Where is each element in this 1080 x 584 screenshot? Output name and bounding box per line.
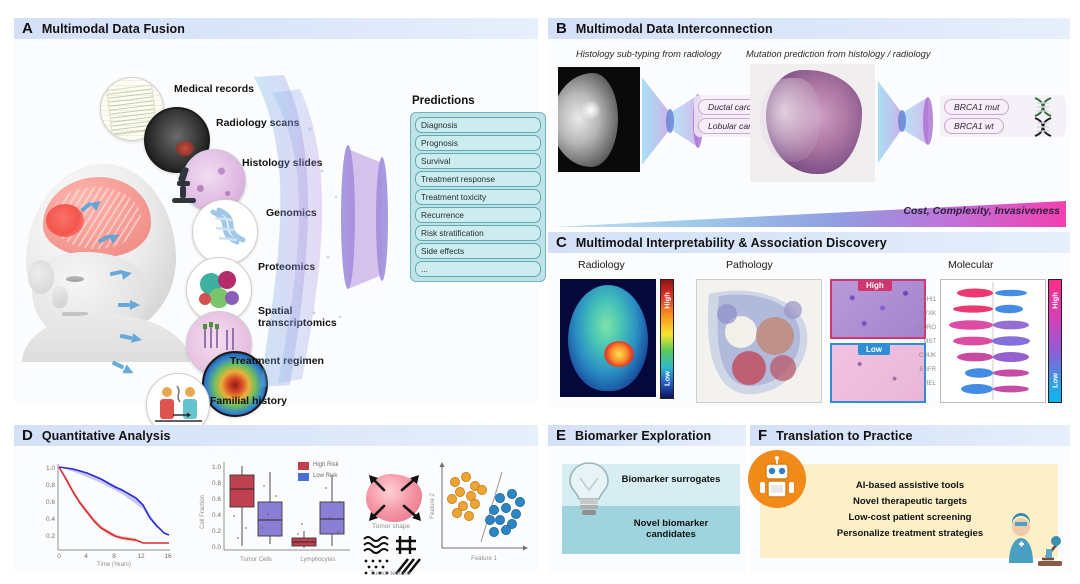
svg-text:0.6: 0.6 xyxy=(212,496,221,503)
brain-heatmap-image xyxy=(560,279,656,397)
svg-text:0.8: 0.8 xyxy=(46,482,55,489)
shap-beeswarm-glyph xyxy=(941,280,1045,402)
panel-d: D Quantitative Analysis 1.00.80.6 0.40.2… xyxy=(14,425,538,573)
shap-gene-label: EGFR xyxy=(906,367,936,373)
flow-arrow-tail-4 xyxy=(118,303,130,307)
svg-text:0.2: 0.2 xyxy=(212,528,221,535)
panel-e-body: Biomarker surrogates Novel biomarker can… xyxy=(548,446,746,573)
survival-curve-chart: 1.00.80.6 0.40.2 048 1216 Time (Years) xyxy=(28,458,178,568)
panel-e-title: Biomarker Exploration xyxy=(575,429,711,443)
panel-c: C Multimodal Interpretability & Associat… xyxy=(548,232,1070,407)
panel-b: B Multimodal Data Interconnection Histol… xyxy=(548,18,1070,225)
panel-c-header: C Multimodal Interpretability & Associat… xyxy=(548,232,1070,253)
prediction-item: Recurrence xyxy=(415,207,541,223)
patch-label-low: Low xyxy=(858,344,890,355)
translation-item: Novel therapeutic targets xyxy=(750,496,1070,507)
panel-a-header: A Multimodal Data Fusion xyxy=(14,18,538,39)
cost-complexity-label: Cost, Complexity, Invasiveness xyxy=(903,205,1060,217)
svg-text:0.4: 0.4 xyxy=(46,516,55,523)
panel-d-header: D Quantitative Analysis xyxy=(14,425,538,446)
label-medical-records: Medical records xyxy=(174,83,254,95)
panel-f-body: AI-based assistive tools Novel therapeut… xyxy=(750,446,1070,573)
prediction-item: Survival xyxy=(415,153,541,169)
panel-e: E Biomarker Exploration Biomarker surrog… xyxy=(548,425,746,573)
svg-text:4: 4 xyxy=(84,553,88,560)
pathology-attention-glyph xyxy=(697,280,821,402)
novel-biomarker-candidates-label: Novel biomarker candidates xyxy=(608,518,734,541)
prediction-item: Risk stratification xyxy=(415,225,541,241)
panel-d-letter: D xyxy=(22,428,33,443)
subtitle-pathology: Pathology xyxy=(726,259,773,271)
panel-f: F Translation to Practice AI-based assis… xyxy=(750,425,1070,573)
translation-item: AI-based assistive tools xyxy=(750,480,1070,491)
shap-gene-label: MST xyxy=(906,339,936,345)
lightbulb-icon xyxy=(566,460,612,518)
biomarker-surrogates-label: Biomarker surrogates xyxy=(608,474,734,485)
subtitle-molecular: Molecular xyxy=(948,259,994,271)
legend-swatch-low-risk xyxy=(298,473,309,481)
panel-d-title: Quantitative Analysis xyxy=(42,429,171,443)
panel-a: A Multimodal Data Fusion xyxy=(14,18,538,403)
panel-b-body: Histology sub-typing from radiology Muta… xyxy=(548,39,1070,225)
novel-biomarker-line2: candidates xyxy=(646,529,696,540)
svg-text:0: 0 xyxy=(57,553,61,560)
prediction-item: Diagnosis xyxy=(415,117,541,133)
predictions-list: Diagnosis Prognosis Survival Treatment r… xyxy=(410,112,546,282)
panel-a-title: Multimodal Data Fusion xyxy=(42,22,185,36)
tumor-region-icon xyxy=(46,204,84,237)
panel-c-title: Multimodal Interpretability & Associatio… xyxy=(576,236,887,250)
svg-text:Lymphocytes: Lymphocytes xyxy=(300,557,335,563)
ear-shape xyxy=(28,260,54,294)
svg-text:1.0: 1.0 xyxy=(212,464,221,471)
figure-root: A Multimodal Data Fusion xyxy=(0,0,1080,584)
panel-d-body: 1.00.80.6 0.40.2 048 1216 Time (Years) 1 xyxy=(14,446,538,573)
panel-f-letter: F xyxy=(758,428,767,443)
svg-text:Feature 2: Feature 2 xyxy=(430,492,436,518)
dna-icon-wt xyxy=(1032,117,1054,137)
novel-biomarker-line1: Novel biomarker xyxy=(634,518,708,529)
low-attention-patch: Low xyxy=(830,343,926,403)
shap-colorbar-high-label: High xyxy=(1051,292,1060,309)
subtitle-radiology: Radiology xyxy=(578,259,625,271)
flow-arrow-4 xyxy=(130,300,140,310)
shap-colorbar: High Low xyxy=(1048,279,1062,403)
panel-b-title: Multimodal Data Interconnection xyxy=(576,22,773,36)
predictions-title: Predictions xyxy=(412,95,475,107)
svg-text:0.4: 0.4 xyxy=(212,512,221,519)
flow-arrow-6 xyxy=(122,364,135,377)
shap-beeswarm-plot xyxy=(940,279,1046,403)
shap-colorbar-low-label: Low xyxy=(1051,373,1060,388)
colorbar-low-label: Low xyxy=(663,371,672,386)
microscope-icon xyxy=(166,167,200,207)
pathology-attention-map xyxy=(696,279,822,403)
shap-gene-label: EURO xyxy=(906,325,936,331)
patient-head-illustration xyxy=(26,164,188,349)
legend-label-high-risk: High Risk xyxy=(313,462,339,468)
shap-gene-label: ATXK xyxy=(906,311,936,317)
panel-a-body: Medical records Radiology scans Histolog… xyxy=(14,39,538,403)
svg-text:1.0: 1.0 xyxy=(46,465,55,472)
svg-text:8: 8 xyxy=(112,553,116,560)
network-funnel-2 xyxy=(876,79,946,165)
tumor-shape-label: Tumor shape xyxy=(372,523,410,530)
genomics-icon xyxy=(192,199,258,265)
tag-brca1-wt: BRCA1 wt xyxy=(944,118,1004,134)
prediction-item: Treatment toxicity xyxy=(415,189,541,205)
svg-text:0.8: 0.8 xyxy=(212,480,221,487)
tumor-shape-arrows-icon xyxy=(362,470,428,526)
prediction-item: Prognosis xyxy=(415,135,541,151)
panel-f-header: F Translation to Practice xyxy=(750,425,1070,446)
caption-histology-subtyping: Histology sub-typing from radiology xyxy=(576,49,721,59)
panel-a-letter: A xyxy=(22,21,33,36)
fusion-network-illustration xyxy=(250,67,408,397)
flow-arrow-5 xyxy=(131,333,143,345)
panel-b-header: B Multimodal Data Interconnection xyxy=(548,18,1070,39)
panel-c-letter: C xyxy=(556,235,567,250)
svg-text:0.6: 0.6 xyxy=(46,499,55,506)
panel-e-header: E Biomarker Exploration xyxy=(548,425,746,446)
feature-scatter-chart: Feature 1 Feature 2 xyxy=(428,458,534,570)
dna-helix-glyph xyxy=(193,200,257,264)
shap-gene-label: CHI1 xyxy=(906,297,936,303)
tag-brca1-mut: BRCA1 mut xyxy=(944,99,1009,115)
nose-shape xyxy=(52,286,68,308)
patch-label-high: High xyxy=(858,280,892,291)
whole-slide-image xyxy=(750,64,875,182)
prediction-item: ... xyxy=(415,261,541,277)
panel-b-letter: B xyxy=(556,21,567,36)
legend-swatch-high-risk xyxy=(298,462,309,470)
svg-text:12: 12 xyxy=(137,553,145,560)
panel-c-body: Radiology Pathology Molecular High Low xyxy=(548,253,1070,407)
svg-text:Tumor Cells: Tumor Cells xyxy=(240,557,272,563)
panel-e-letter: E xyxy=(556,428,566,443)
shap-gene-label: CHUK xyxy=(906,353,936,359)
svg-text:Cell Fraction: Cell Fraction xyxy=(200,495,206,529)
panel-f-title: Translation to Practice xyxy=(776,429,912,443)
prediction-item: Side effects xyxy=(415,243,541,259)
tumor-texture-label: Tumor texture xyxy=(370,570,410,577)
eye-shape xyxy=(66,276,84,282)
mammogram-image xyxy=(558,67,640,172)
shap-gene-label: REL xyxy=(906,381,936,387)
svg-text:Time (Years): Time (Years) xyxy=(97,562,131,568)
svg-text:16: 16 xyxy=(164,553,172,560)
colorbar-high-label: High xyxy=(663,292,672,309)
prediction-item: Treatment response xyxy=(415,171,541,187)
dna-icon-mut xyxy=(1032,97,1054,117)
svg-text:0.0: 0.0 xyxy=(212,544,221,551)
svg-text:Feature 1: Feature 1 xyxy=(471,556,497,562)
scientist-microscope-icon xyxy=(1004,513,1066,571)
legend-label-low-risk: Low Risk xyxy=(313,473,337,479)
svg-text:0.2: 0.2 xyxy=(46,533,55,540)
caption-mutation-prediction: Mutation prediction from histology / rad… xyxy=(746,49,930,59)
flow-arrow-3 xyxy=(121,268,133,280)
radiology-colorbar: High Low xyxy=(660,279,674,399)
